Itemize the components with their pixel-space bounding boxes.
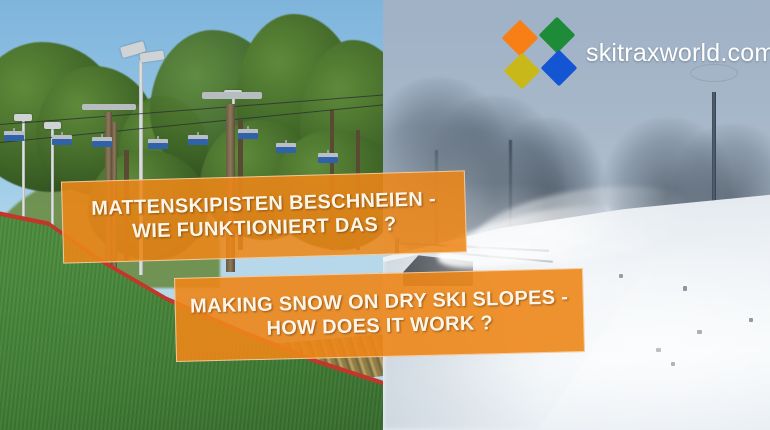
chairlift-chair bbox=[148, 136, 168, 152]
diamond-orange-icon bbox=[502, 20, 539, 57]
light-pole-head bbox=[44, 122, 61, 129]
chairlift-pylon-arm bbox=[202, 92, 262, 99]
chairlift-chair bbox=[188, 132, 208, 148]
chairlift-chair bbox=[318, 150, 338, 166]
banner-english-text: MAKING SNOW ON DRY SKI SLOPES - HOW DOES… bbox=[190, 287, 569, 343]
chairlift-chair bbox=[238, 126, 258, 142]
chairlift-chair bbox=[276, 140, 296, 156]
banner-german: MATTENSKIPISTEN BESCHNEIEN - WIE FUNKTIO… bbox=[61, 170, 467, 263]
site-logo[interactable]: skitraxworld.com bbox=[505, 22, 760, 84]
chairlift-pylon-arm bbox=[82, 104, 136, 110]
chairlift-chair bbox=[4, 128, 24, 144]
diamond-yellow-icon bbox=[504, 53, 541, 90]
light-pole-head bbox=[14, 114, 32, 121]
logo-diamonds bbox=[505, 22, 580, 84]
screenshot-canvas: skitraxworld.com MATTENSKIPISTEN BESCHNE… bbox=[0, 0, 770, 430]
banner-english: MAKING SNOW ON DRY SKI SLOPES - HOW DOES… bbox=[174, 268, 585, 362]
banner-german-text: MATTENSKIPISTEN BESCHNEIEN - WIE FUNKTIO… bbox=[91, 189, 437, 246]
brand-text: skitraxworld.com bbox=[586, 39, 770, 68]
diamond-blue-icon bbox=[541, 50, 578, 87]
chairlift-chair bbox=[92, 134, 112, 150]
chairlift-chair bbox=[52, 132, 72, 148]
diamond-green-icon bbox=[539, 17, 576, 54]
